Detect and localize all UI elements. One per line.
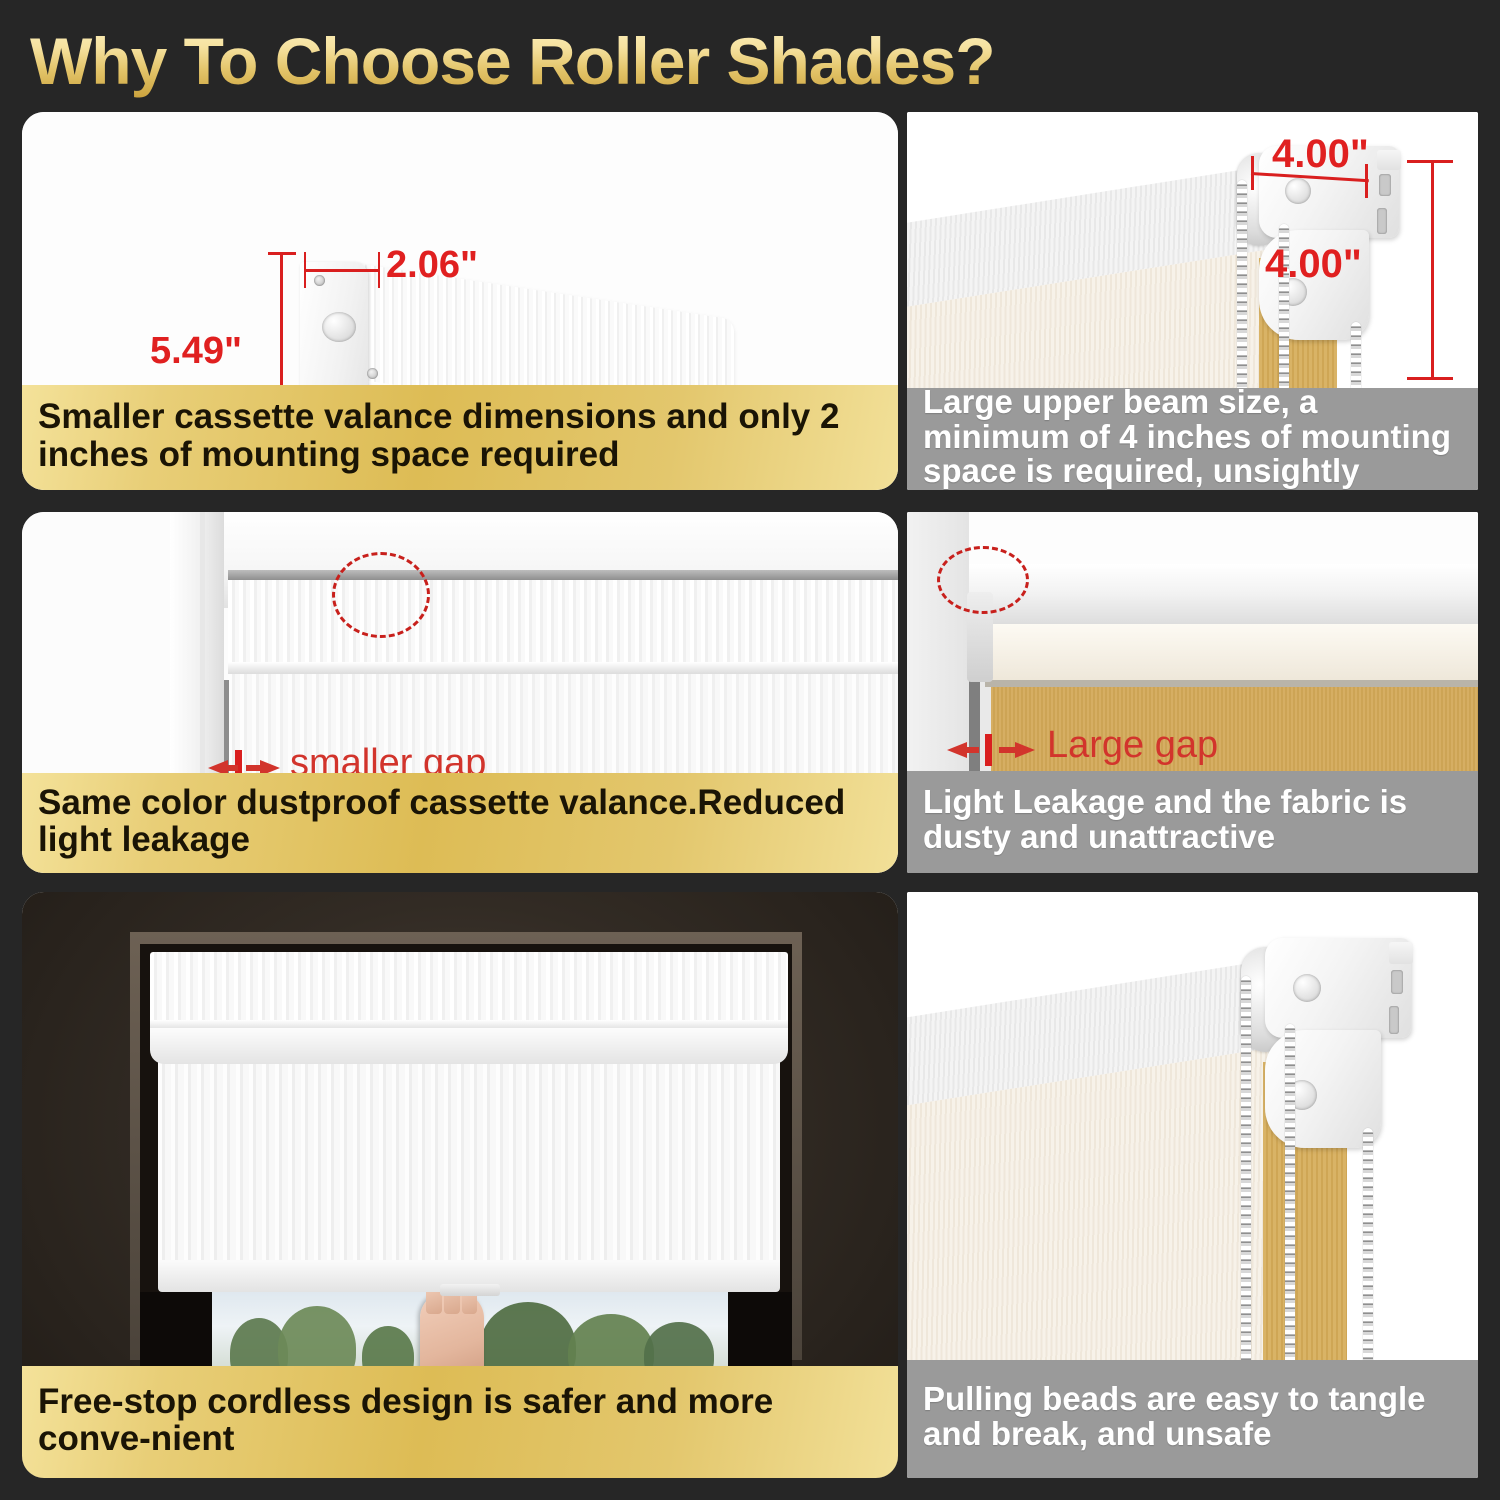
roller-tube-exposed (969, 564, 1478, 630)
bead-chain-left (1241, 976, 1251, 1380)
cream-fabric-band (985, 624, 1478, 682)
highlight-dashed-circle (332, 552, 430, 638)
dim-height-tick-top (268, 252, 296, 255)
shade-fabric-panel (158, 1060, 780, 1268)
bead-chain-left (1237, 180, 1247, 392)
bracket-slot-upper (1391, 970, 1403, 994)
bead-chain-right (1351, 322, 1361, 392)
dimension-beam-width-label: 4.00" (1272, 132, 1369, 177)
panel-con-pulling-beads: Pulling beads are easy to tangle and bre… (907, 892, 1478, 1478)
endcap-screw-top (314, 275, 325, 286)
caption-con-large-upper-beam: Large upper beam size, a minimum of 4 in… (907, 388, 1478, 490)
endcap-knob-upper (322, 312, 356, 342)
bracket-slot-lower (1389, 1006, 1399, 1034)
valance-rail (228, 570, 898, 580)
gap-measure-bar (985, 734, 992, 766)
cassette-headrail (150, 952, 788, 1024)
gap-arrow-right-icon (999, 739, 1035, 761)
cassette-valance-face (228, 580, 898, 666)
dimension-height-label: 5.49" (150, 330, 242, 373)
dim-beam-height-tick-bottom (1407, 377, 1453, 380)
caption-pro-cordless-design: Free-stop cordless design is safer and m… (22, 1366, 898, 1478)
dim-beam-height-line (1431, 160, 1434, 380)
panel-pro-cordless-design: Free-stop cordless design is safer and m… (22, 892, 898, 1478)
gap-arrow-left-icon (947, 739, 979, 761)
bracket-knob-upper (1293, 974, 1321, 1002)
bracket-ear (1377, 150, 1401, 170)
bracket-slot-lower (1377, 208, 1387, 234)
dimension-width-label: 2.06" (386, 244, 478, 287)
bracket-ear (1389, 942, 1413, 964)
shade-pull-tab (440, 1284, 500, 1296)
bead-chain-right (1363, 1128, 1373, 1380)
dim-width-arrow (304, 269, 380, 272)
window-frame-left (170, 512, 224, 773)
endcap-screw-mid (367, 368, 378, 379)
caption-con-pulling-beads: Pulling beads are easy to tangle and bre… (907, 1360, 1478, 1478)
dim-beam-height-tick-top (1407, 160, 1453, 163)
valance-lip (228, 662, 898, 674)
bracket-slot-upper (1379, 174, 1391, 196)
infographic-root: Why To Choose Roller Shades? 2.06" 5.49" (0, 0, 1500, 1500)
dimension-beam-height-label: 4.00" (1265, 242, 1362, 287)
panel-con-large-upper-beam: 4.00" 4.00" Large upper beam size, a min… (907, 112, 1478, 490)
gap-label-large: Large gap (1047, 724, 1218, 767)
panel-pro-cassette-dimensions: 2.06" 5.49" Smaller cassette valance dim… (22, 112, 898, 490)
bracket-knob-upper (1285, 178, 1311, 204)
caption-pro-cassette-dimensions: Smaller cassette valance dimensions and … (22, 385, 898, 490)
window-frame-edge (200, 512, 205, 773)
highlight-dashed-circle (937, 546, 1029, 614)
page-title: Why To Choose Roller Shades? (30, 22, 1330, 100)
panel-con-light-leakage: Large gap Light Leakage and the fabric i… (907, 512, 1478, 873)
headrail-roller (150, 1028, 788, 1064)
caption-pro-smaller-gap: Same color dustproof cassette valance.Re… (22, 773, 898, 873)
panel-pro-smaller-gap: smaller gap Same color dustproof cassett… (22, 512, 898, 873)
caption-con-light-leakage: Light Leakage and the fabric is dusty an… (907, 771, 1478, 873)
bead-chain-mid (1285, 1024, 1295, 1380)
